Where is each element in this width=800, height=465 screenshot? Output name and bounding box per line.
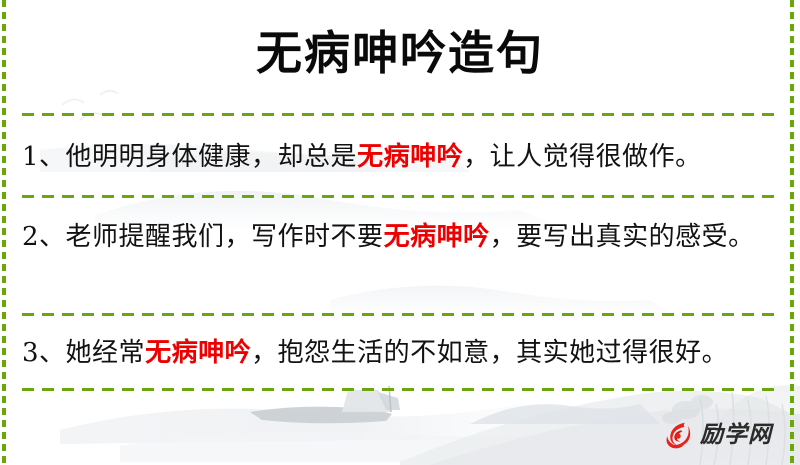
sentence-2-text-before: 老师提醒我们，写作时不要: [66, 222, 384, 252]
sentence-3-number: 3、: [22, 338, 66, 368]
example-sentence-1: 1、他明明身体健康，却总是无病呻吟，让人觉得很做作。: [22, 134, 778, 180]
frame-border-left: [2, 0, 6, 465]
divider-after-sentence-3: [22, 388, 776, 391]
sentence-3-text-after: ，抱怨生活的不如意，其实她过得很好。: [251, 338, 728, 368]
sentence-2-number: 2、: [22, 222, 66, 252]
example-sentence-3: 3、她经常无病呻吟，抱怨生活的不如意，其实她过得很好。: [22, 330, 778, 376]
sentence-2-idiom: 无病呻吟: [384, 222, 490, 252]
sentence-3-idiom: 无病呻吟: [145, 338, 251, 368]
sentence-1-text-after: ，让人觉得很做作。: [463, 142, 702, 172]
slide-canvas: 无病呻吟造句 1、他明明身体健康，却总是无病呻吟，让人觉得很做作。 2、老师提醒…: [0, 0, 800, 465]
site-watermark-label: 励学网: [700, 422, 772, 448]
sentence-1-idiom: 无病呻吟: [357, 142, 463, 172]
site-watermark-logo: 励学网: [660, 418, 772, 452]
sentence-1-number: 1、: [22, 142, 66, 172]
page-title: 无病呻吟造句: [0, 26, 800, 80]
sentence-3-text-before: 她经常: [66, 338, 146, 368]
divider-below-title: [22, 113, 776, 116]
divider-after-sentence-2: [22, 313, 776, 316]
example-sentence-2: 2、老师提醒我们，写作时不要无病呻吟，要写出真实的感受。: [22, 214, 778, 260]
sentence-1-text-before: 他明明身体健康，却总是: [66, 142, 358, 172]
red-swirl-flame-icon: [660, 418, 694, 452]
frame-border-right: [790, 0, 794, 465]
divider-after-sentence-1: [22, 195, 776, 198]
sentence-2-text-after: ，要写出真实的感受。: [490, 222, 755, 252]
